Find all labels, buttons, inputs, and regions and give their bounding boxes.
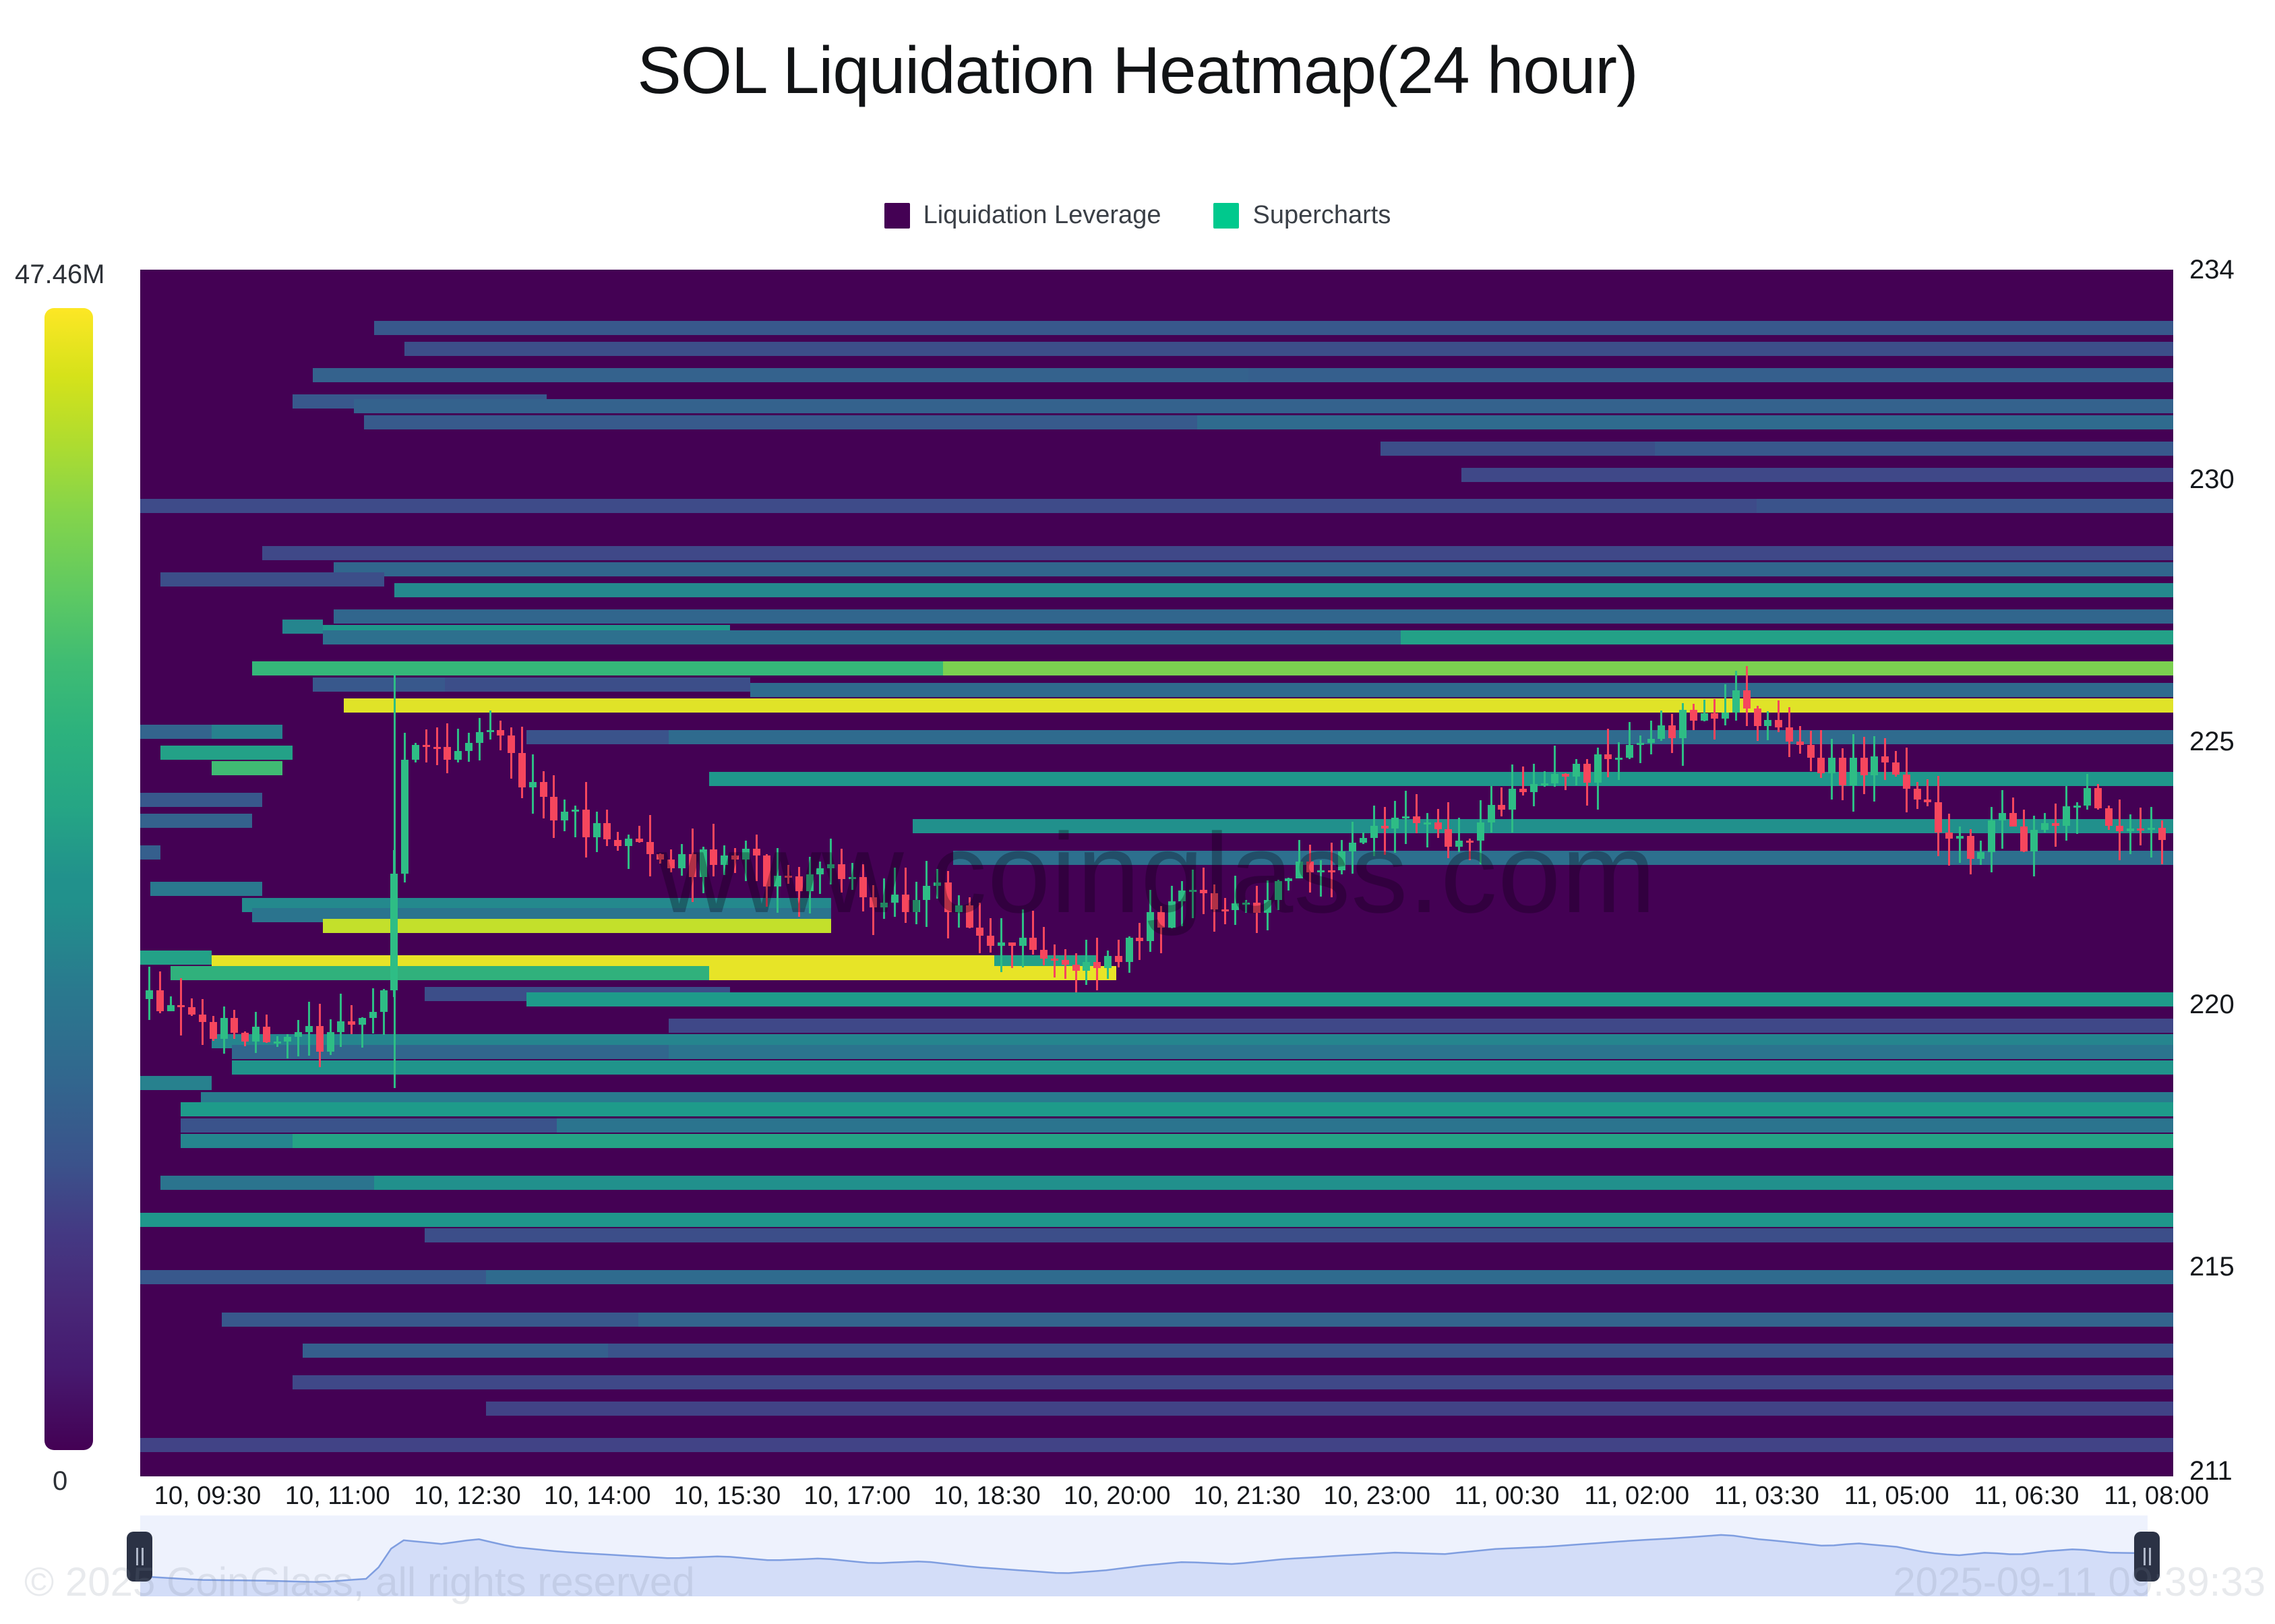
y-axis-tick-label: 215	[2189, 1252, 2235, 1282]
colorbar-gradient	[44, 308, 93, 1450]
candle-body	[1211, 893, 1218, 909]
y-axis-tick-label: 225	[2189, 727, 2235, 757]
candle-body	[550, 797, 557, 821]
candle-wick	[1011, 942, 1013, 968]
candle-wick	[1054, 944, 1056, 978]
candle-body	[1083, 962, 1090, 971]
candle-wick	[1618, 742, 1620, 781]
candle-body	[1189, 890, 1196, 892]
candle-wick	[2140, 808, 2142, 845]
candle-body	[880, 903, 888, 907]
candle-body	[721, 855, 728, 865]
candle-body	[1935, 802, 1942, 832]
candle-body	[1391, 818, 1399, 829]
candle-body	[295, 1032, 302, 1037]
candle-body	[1604, 754, 1612, 759]
candle-body	[1221, 909, 1229, 911]
candle-wick	[2150, 807, 2152, 858]
candle-body	[348, 1021, 355, 1024]
candle-body	[454, 751, 462, 760]
candle-wick	[1075, 953, 1077, 992]
candle-body	[1264, 900, 1271, 913]
candle-body	[1317, 870, 1325, 872]
candle-body	[1349, 843, 1356, 851]
candle-body	[1945, 833, 1953, 839]
colorbar-max-label: 47.46M	[15, 260, 104, 290]
candle-body	[614, 840, 621, 846]
candle-body	[1136, 938, 1143, 942]
candle-body	[487, 730, 494, 732]
candle-body	[944, 882, 952, 912]
candle-body	[1754, 709, 1761, 726]
candle-body	[1573, 764, 1580, 776]
candle-body	[742, 849, 750, 860]
candle-body	[1924, 800, 1931, 802]
candle-body	[1999, 813, 2006, 820]
candle-body	[1711, 713, 1718, 719]
square-swatch-icon	[884, 203, 910, 229]
candle-body	[1722, 713, 1729, 719]
candle-body	[902, 895, 909, 912]
x-axis-tick-label: 10, 12:30	[414, 1482, 520, 1511]
candle-body	[1157, 912, 1165, 928]
candle-body	[657, 854, 664, 860]
candle-body	[1626, 745, 1633, 758]
candle-body	[1594, 754, 1602, 783]
candle-body	[2084, 788, 2091, 806]
candle-wick	[819, 862, 821, 893]
candle-body	[1509, 789, 1516, 810]
x-axis-tick-label: 11, 00:30	[1455, 1482, 1560, 1511]
candle-wick	[1192, 870, 1194, 918]
candle-body	[274, 1042, 281, 1044]
timestamp-watermark: 2025-09-11 09:39:33	[1893, 1559, 2266, 1605]
legend-label: Supercharts	[1252, 201, 1391, 230]
x-axis-tick-label: 11, 02:00	[1584, 1482, 1689, 1511]
candle-body	[816, 868, 824, 874]
x-axis-tick-label: 10, 11:00	[285, 1482, 390, 1511]
candle-body	[2127, 829, 2134, 831]
candle-body	[1828, 758, 1836, 773]
candle-wick	[745, 841, 747, 882]
candle-body	[263, 1027, 270, 1042]
candle-body	[795, 876, 803, 891]
candle-body	[1296, 862, 1303, 878]
candle-body	[955, 905, 963, 912]
candle-body	[1072, 965, 1080, 971]
candle-wick	[1948, 814, 1950, 866]
candle-body	[689, 854, 696, 877]
candle-body	[1637, 743, 1644, 745]
candle-wick	[1713, 699, 1716, 740]
candle-body	[1434, 822, 1442, 829]
candle-body	[146, 990, 153, 999]
candle-body	[1679, 710, 1687, 738]
candle-body	[1988, 820, 1995, 853]
candle-body	[210, 1022, 217, 1039]
candle-body	[1914, 789, 1921, 800]
candle-body	[582, 810, 590, 837]
candle-body	[167, 1005, 175, 1011]
candle-body	[540, 782, 547, 797]
candle-wick	[756, 835, 758, 882]
candle-wick	[1650, 721, 1652, 754]
candle-body	[763, 855, 770, 886]
candle-wick	[2044, 813, 2046, 833]
candle-body	[1338, 851, 1345, 870]
candle-body	[1807, 745, 1815, 757]
candle-body	[305, 1026, 313, 1032]
candle-body	[1871, 756, 1878, 776]
candle-body	[1147, 912, 1154, 941]
x-axis-tick-label: 10, 15:30	[674, 1482, 781, 1511]
square-swatch-icon	[1213, 203, 1239, 229]
candle-body	[231, 1018, 238, 1033]
x-axis-tick-label: 10, 18:30	[934, 1482, 1040, 1511]
x-axis-tick-label: 10, 21:30	[1194, 1482, 1300, 1511]
candle-body	[1530, 784, 1538, 792]
candle-body	[731, 855, 739, 860]
candle-wick	[1799, 726, 1801, 754]
candle-body	[561, 812, 568, 820]
candle-body	[1029, 938, 1037, 951]
candle-body	[1903, 775, 1910, 789]
candle-body	[1743, 690, 1751, 709]
candle-wick	[798, 867, 800, 917]
candle-body	[2116, 826, 2123, 832]
candle-wick	[2161, 820, 2163, 864]
y-axis-tick-label: 230	[2189, 464, 2235, 495]
candle-body	[1402, 816, 1409, 818]
candle-body	[859, 877, 867, 898]
candle-body	[1850, 758, 1857, 785]
copyright-watermark: © 2025 CoinGlass, all rights reserved	[24, 1559, 695, 1605]
candle-wick	[883, 878, 885, 920]
candle-body	[1104, 956, 1112, 968]
candle-body	[284, 1037, 291, 1042]
x-axis-tick-label: 10, 14:00	[544, 1482, 650, 1511]
candle-body	[646, 842, 654, 854]
candle-wick	[436, 727, 438, 765]
colorbar: 47.46M 0	[23, 260, 117, 1480]
candle-body	[2030, 830, 2038, 851]
candle-body	[1115, 956, 1122, 962]
candle-body	[1093, 962, 1101, 968]
candle-body	[636, 839, 643, 842]
candle-body	[1881, 756, 1889, 762]
candle-wick	[1607, 729, 1609, 777]
candle-body	[1732, 690, 1740, 713]
candle-wick	[1500, 787, 1503, 816]
candle-wick	[734, 848, 736, 873]
candle-body	[1062, 960, 1069, 965]
candle-body	[1562, 774, 1569, 776]
candle-wick	[340, 994, 342, 1047]
candle-body	[1658, 725, 1665, 739]
candle-body	[1466, 841, 1474, 843]
candle-body	[1956, 836, 1964, 838]
candle-body	[1253, 903, 1261, 913]
candle-wick	[1384, 807, 1386, 855]
candle-body	[753, 849, 760, 856]
candle-body	[1275, 881, 1282, 900]
candle-body	[2020, 826, 2028, 851]
candle-body	[700, 849, 707, 877]
candle-wick	[1959, 826, 1961, 863]
candle-wick	[1927, 779, 1929, 806]
candle-wick	[394, 673, 396, 1088]
candle-body	[444, 747, 451, 760]
candle-body	[849, 877, 856, 879]
candle-body	[177, 1005, 185, 1007]
candle-body	[1498, 805, 1505, 810]
candle-body	[1786, 727, 1793, 742]
candle-body	[1051, 959, 1058, 961]
candle-body	[188, 1007, 195, 1015]
candle-body	[359, 1018, 366, 1025]
candle-body	[987, 936, 994, 946]
x-axis-tick-label: 10, 23:00	[1324, 1482, 1430, 1511]
candle-body	[2158, 828, 2166, 840]
candle-body	[1615, 758, 1622, 760]
candle-body	[497, 730, 504, 735]
candle-wick	[1416, 794, 1418, 833]
candle-body	[1817, 758, 1825, 773]
candle-body	[2073, 806, 2081, 808]
candle-body	[2094, 788, 2102, 808]
candle-body	[1690, 710, 1697, 721]
chart-legend: Liquidation Leverage Supercharts	[0, 201, 2275, 230]
candle-body	[1360, 838, 1367, 843]
x-axis-tick-label: 10, 17:00	[804, 1482, 911, 1511]
candle-body	[1370, 826, 1378, 838]
candle-body	[1306, 862, 1314, 873]
candle-wick	[1118, 940, 1120, 967]
candle-body	[603, 823, 611, 839]
heatmap-plot-area[interactable]: www.coinglass.com	[140, 270, 2173, 1476]
candle-body	[2137, 829, 2144, 831]
candle-body	[1701, 713, 1708, 721]
candle-body	[870, 897, 877, 907]
candle-body	[1040, 950, 1048, 959]
candle-body	[1328, 870, 1335, 872]
candle-body	[1008, 942, 1016, 946]
page-title: SOL Liquidation Heatmap(24 hour)	[0, 32, 2275, 109]
candle-body	[1796, 742, 1804, 745]
x-axis-tick-label: 11, 03:30	[1714, 1482, 1819, 1511]
legend-item-supercharts[interactable]: Supercharts	[1213, 201, 1391, 230]
candle-body	[998, 942, 1005, 945]
candle-body	[316, 1026, 324, 1052]
candle-body	[1775, 720, 1782, 727]
candle-body	[923, 886, 930, 900]
candle-body	[1967, 836, 1974, 859]
candle-body	[1200, 890, 1207, 894]
x-axis: 10, 09:3010, 11:0010, 12:3010, 14:0010, …	[140, 1482, 2173, 1520]
candle-body	[2052, 823, 2059, 825]
candle-body	[625, 839, 632, 846]
candle-wick	[489, 711, 491, 740]
candle-body	[2009, 813, 2017, 826]
candle-body	[838, 864, 845, 879]
candle-wick	[894, 868, 896, 917]
candle-body	[1519, 789, 1527, 792]
candle-wick	[1639, 735, 1641, 763]
candle-body	[1381, 826, 1389, 829]
candle-body	[1477, 822, 1484, 841]
candle-body	[337, 1021, 344, 1032]
candle-wick	[351, 1005, 353, 1034]
candle-wick	[787, 865, 789, 884]
candle-body	[2105, 808, 2113, 826]
candle-body	[423, 745, 430, 747]
candle-body	[1488, 805, 1495, 822]
candle-body	[241, 1033, 249, 1042]
heatmap-page: SOL Liquidation Heatmap(24 hour) Liquida…	[0, 0, 2275, 1624]
candle-body	[667, 860, 675, 868]
y-axis-tick-label: 220	[2189, 990, 2235, 1020]
candle-wick	[1426, 813, 1428, 848]
candle-wick	[297, 1020, 299, 1056]
candle-wick	[1181, 881, 1183, 926]
candle-body	[1445, 829, 1452, 847]
candle-body	[1839, 758, 1846, 785]
candle-wick	[1724, 684, 1726, 725]
candle-body	[1413, 816, 1420, 823]
y-axis-tick-label: 234	[2189, 255, 2235, 285]
candle-body	[1668, 725, 1676, 738]
candle-body	[1860, 758, 1868, 776]
candle-body	[572, 810, 579, 812]
candle-wick	[1043, 927, 1045, 965]
candle-body	[1424, 822, 1431, 824]
candle-wick	[1320, 860, 1322, 897]
candle-body	[433, 747, 441, 749]
candle-wick	[2129, 814, 2131, 854]
candle-body	[1977, 852, 1984, 858]
candle-body	[476, 732, 483, 743]
candle-body	[1168, 901, 1176, 928]
colorbar-min-label: 0	[53, 1466, 67, 1497]
candlestick-series	[140, 270, 2173, 1476]
x-axis-tick-label: 10, 20:00	[1064, 1482, 1170, 1511]
candle-body	[465, 743, 473, 751]
candle-body	[806, 874, 814, 891]
candle-body	[774, 876, 781, 886]
x-axis-tick-label: 10, 09:30	[154, 1482, 261, 1511]
candle-body	[380, 990, 388, 1011]
candle-body	[1583, 764, 1591, 783]
candle-wick	[1234, 876, 1236, 925]
x-axis-tick-label: 11, 08:00	[2104, 1482, 2209, 1511]
candle-body	[1551, 774, 1558, 783]
candle-body	[412, 745, 419, 760]
candle-body	[827, 864, 835, 868]
candle-body	[1764, 720, 1771, 726]
x-axis-tick-label: 11, 06:30	[1974, 1482, 2080, 1511]
candle-body	[1892, 762, 1900, 774]
candle-body	[976, 928, 983, 936]
candle-body	[327, 1032, 334, 1052]
candle-body	[252, 1027, 260, 1042]
legend-item-liquidation-leverage[interactable]: Liquidation Leverage	[884, 201, 1161, 230]
candle-body	[678, 854, 686, 868]
candle-body	[891, 895, 899, 903]
candle-body	[220, 1018, 228, 1039]
candle-body	[401, 760, 408, 874]
candle-wick	[372, 988, 374, 1033]
candle-wick	[872, 885, 874, 935]
candle-body	[1455, 841, 1463, 847]
candle-body	[2041, 823, 2049, 829]
candle-body	[1232, 903, 1239, 911]
candle-body	[934, 882, 941, 886]
legend-label: Liquidation Leverage	[923, 201, 1161, 230]
candle-body	[2148, 828, 2155, 830]
candle-body	[710, 849, 717, 865]
candle-body	[1647, 739, 1655, 744]
candle-body	[518, 753, 526, 787]
candle-body	[1126, 938, 1133, 962]
candle-body	[529, 782, 537, 788]
candle-body	[1019, 938, 1027, 946]
candle-body	[1285, 878, 1292, 881]
candle-body	[508, 735, 515, 753]
candle-body	[1242, 903, 1250, 905]
candle-body	[593, 823, 601, 837]
candle-body	[966, 905, 973, 928]
candle-body	[369, 1012, 377, 1018]
candle-body	[199, 1015, 206, 1022]
candle-wick	[830, 839, 832, 885]
candle-body	[913, 900, 920, 912]
candle-body	[1178, 891, 1186, 901]
x-axis-tick-label: 11, 05:00	[1844, 1482, 1949, 1511]
candle-body	[785, 876, 792, 878]
candle-body	[156, 990, 164, 1011]
candle-body	[1541, 783, 1548, 785]
candle-body	[2063, 806, 2070, 826]
